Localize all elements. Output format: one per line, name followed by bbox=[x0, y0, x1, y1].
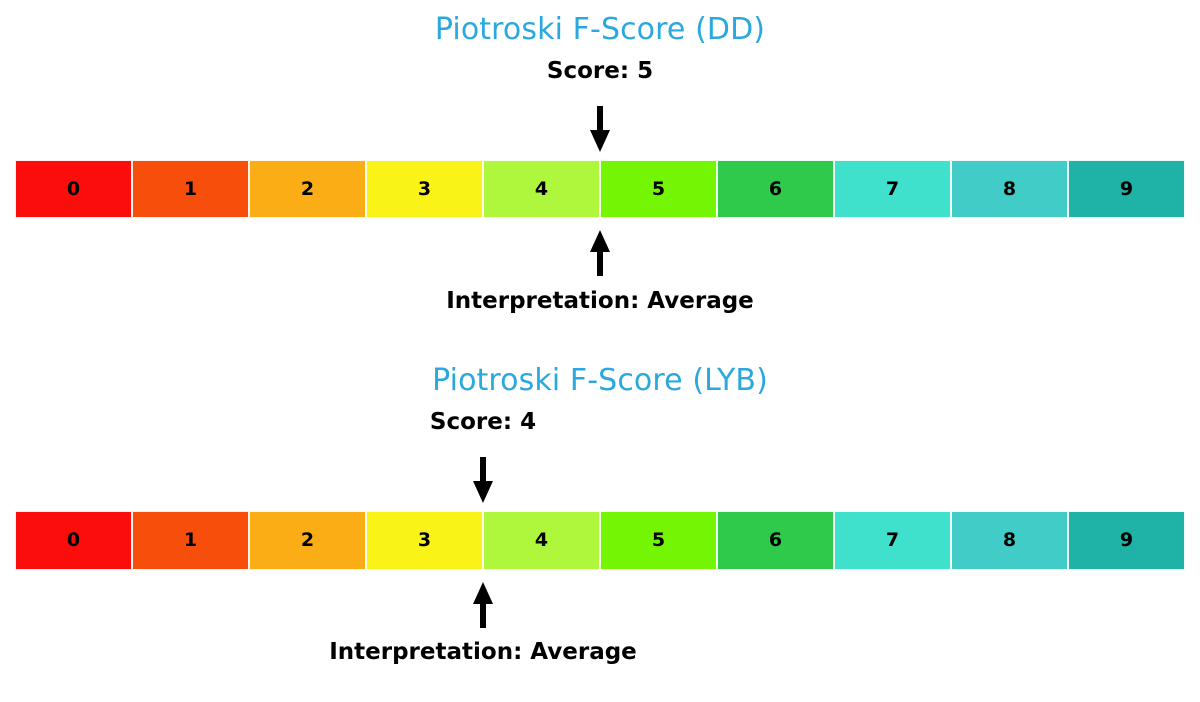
score-segment: 7 bbox=[834, 511, 951, 570]
score-segment: 2 bbox=[249, 511, 366, 570]
score-segment-label: 6 bbox=[769, 180, 782, 199]
score-segment-label: 0 bbox=[67, 180, 80, 199]
score-marker-down-arrow-icon bbox=[469, 457, 497, 503]
score-segment-label: 5 bbox=[652, 180, 665, 199]
gauge-title: Piotroski F-Score (DD) bbox=[0, 12, 1200, 47]
score-segment-label: 1 bbox=[184, 531, 197, 550]
score-segment: 4 bbox=[483, 511, 600, 570]
gauge-panel-lyb: Piotroski F-Score (LYB) Score: 4 0123456… bbox=[0, 351, 1200, 702]
score-segment: 1 bbox=[132, 160, 249, 218]
score-segment: 3 bbox=[366, 160, 483, 218]
score-segment: 9 bbox=[1068, 511, 1185, 570]
score-scale-bar: 0123456789 bbox=[15, 511, 1185, 570]
score-segment: 8 bbox=[951, 511, 1068, 570]
score-segment-label: 8 bbox=[1003, 180, 1016, 199]
score-segment: 4 bbox=[483, 160, 600, 218]
score-label: Score: 4 bbox=[430, 409, 536, 435]
score-segment-label: 4 bbox=[535, 531, 548, 550]
score-segment: 2 bbox=[249, 160, 366, 218]
score-segment-label: 2 bbox=[301, 531, 314, 550]
score-segment-label: 1 bbox=[184, 180, 197, 199]
score-segment-label: 0 bbox=[67, 531, 80, 550]
score-segment-label: 3 bbox=[418, 531, 431, 550]
score-segment-label: 7 bbox=[886, 180, 899, 199]
score-segment-label: 8 bbox=[1003, 531, 1016, 550]
score-scale-bar: 0123456789 bbox=[15, 160, 1185, 218]
score-segment: 9 bbox=[1068, 160, 1185, 218]
score-segment: 0 bbox=[15, 160, 132, 218]
interpretation-marker-up-arrow-icon bbox=[469, 582, 497, 628]
score-segment: 3 bbox=[366, 511, 483, 570]
score-segment: 1 bbox=[132, 511, 249, 570]
score-label: Score: 5 bbox=[547, 58, 653, 84]
interpretation-label: Interpretation: Average bbox=[329, 639, 637, 665]
score-segment-label: 7 bbox=[886, 531, 899, 550]
score-segment: 6 bbox=[717, 160, 834, 218]
score-segment-label: 4 bbox=[535, 180, 548, 199]
score-segment: 7 bbox=[834, 160, 951, 218]
score-segment-label: 6 bbox=[769, 531, 782, 550]
score-segment: 0 bbox=[15, 511, 132, 570]
score-segment: 6 bbox=[717, 511, 834, 570]
score-segment: 8 bbox=[951, 160, 1068, 218]
score-segment-label: 5 bbox=[652, 531, 665, 550]
score-segment: 5 bbox=[600, 160, 717, 218]
score-segment-label: 9 bbox=[1120, 531, 1133, 550]
score-marker-down-arrow-icon bbox=[586, 106, 614, 152]
score-segment-label: 3 bbox=[418, 180, 431, 199]
gauge-title: Piotroski F-Score (LYB) bbox=[0, 363, 1200, 398]
score-segment-label: 2 bbox=[301, 180, 314, 199]
score-segment-label: 9 bbox=[1120, 180, 1133, 199]
interpretation-marker-up-arrow-icon bbox=[586, 230, 614, 276]
gauge-panel-dd: Piotroski F-Score (DD) Score: 5 01234567… bbox=[0, 0, 1200, 351]
interpretation-label: Interpretation: Average bbox=[446, 288, 754, 314]
score-segment: 5 bbox=[600, 511, 717, 570]
